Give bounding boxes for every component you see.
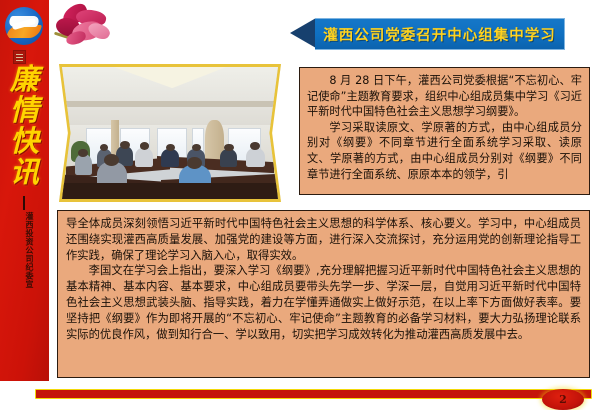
- article-title-banner: 灌西公司党委召开中心组集中学习: [290, 18, 565, 48]
- footer-bar: [35, 389, 592, 399]
- publication-title: 廉情快讯: [3, 64, 46, 188]
- body-text-box: 导全体成员深刻领悟习近平新时代中国特色社会主义思想的科学体系、核心要义。学习中，…: [57, 210, 590, 378]
- magnolia-flower-icon: [48, 4, 112, 54]
- intro-paragraph-2: 学习采取读原文、学原著的方式，由中心组成员分别对《纲要》不同章节进行全面系统学习…: [307, 120, 582, 182]
- left-red-banner: 廉情快讯 灌西投资公司纪委宣: [0, 0, 49, 381]
- body-paragraph-2: 李国文在学习会上指出，要深入学习《纲要》,充分理解把握习近平新时代中国特色社会主…: [66, 263, 581, 342]
- page-number: 2: [559, 393, 567, 406]
- body-paragraph-1: 导全体成员深刻领悟习近平新时代中国特色社会主义思想的科学体系、核心要义。学习中，…: [66, 216, 581, 263]
- title-divider: [23, 196, 25, 210]
- meeting-photo: [59, 64, 281, 202]
- newsletter-page: 廉情快讯 灌西投资公司纪委宣: [0, 0, 600, 410]
- photo-image: [62, 67, 278, 199]
- banner-arrow-shape: [290, 18, 316, 48]
- publisher-label: 灌西投资公司纪委宣: [20, 212, 34, 289]
- company-logo-icon: [5, 7, 43, 45]
- article-title: 灌西公司党委召开中心组集中学习: [323, 24, 556, 45]
- intro-text-box: 8 月 28 日下午，灌西公司党委根据“不忘初心、牢记使命”主题教育要求，组织中…: [299, 67, 590, 195]
- banner-body: 灌西公司党委召开中心组集中学习: [315, 18, 565, 50]
- intro-paragraph-1: 8 月 28 日下午，灌西公司党委根据“不忘初心、牢记使命”主题教育要求，组织中…: [307, 73, 582, 120]
- page-number-badge: 2: [542, 389, 584, 410]
